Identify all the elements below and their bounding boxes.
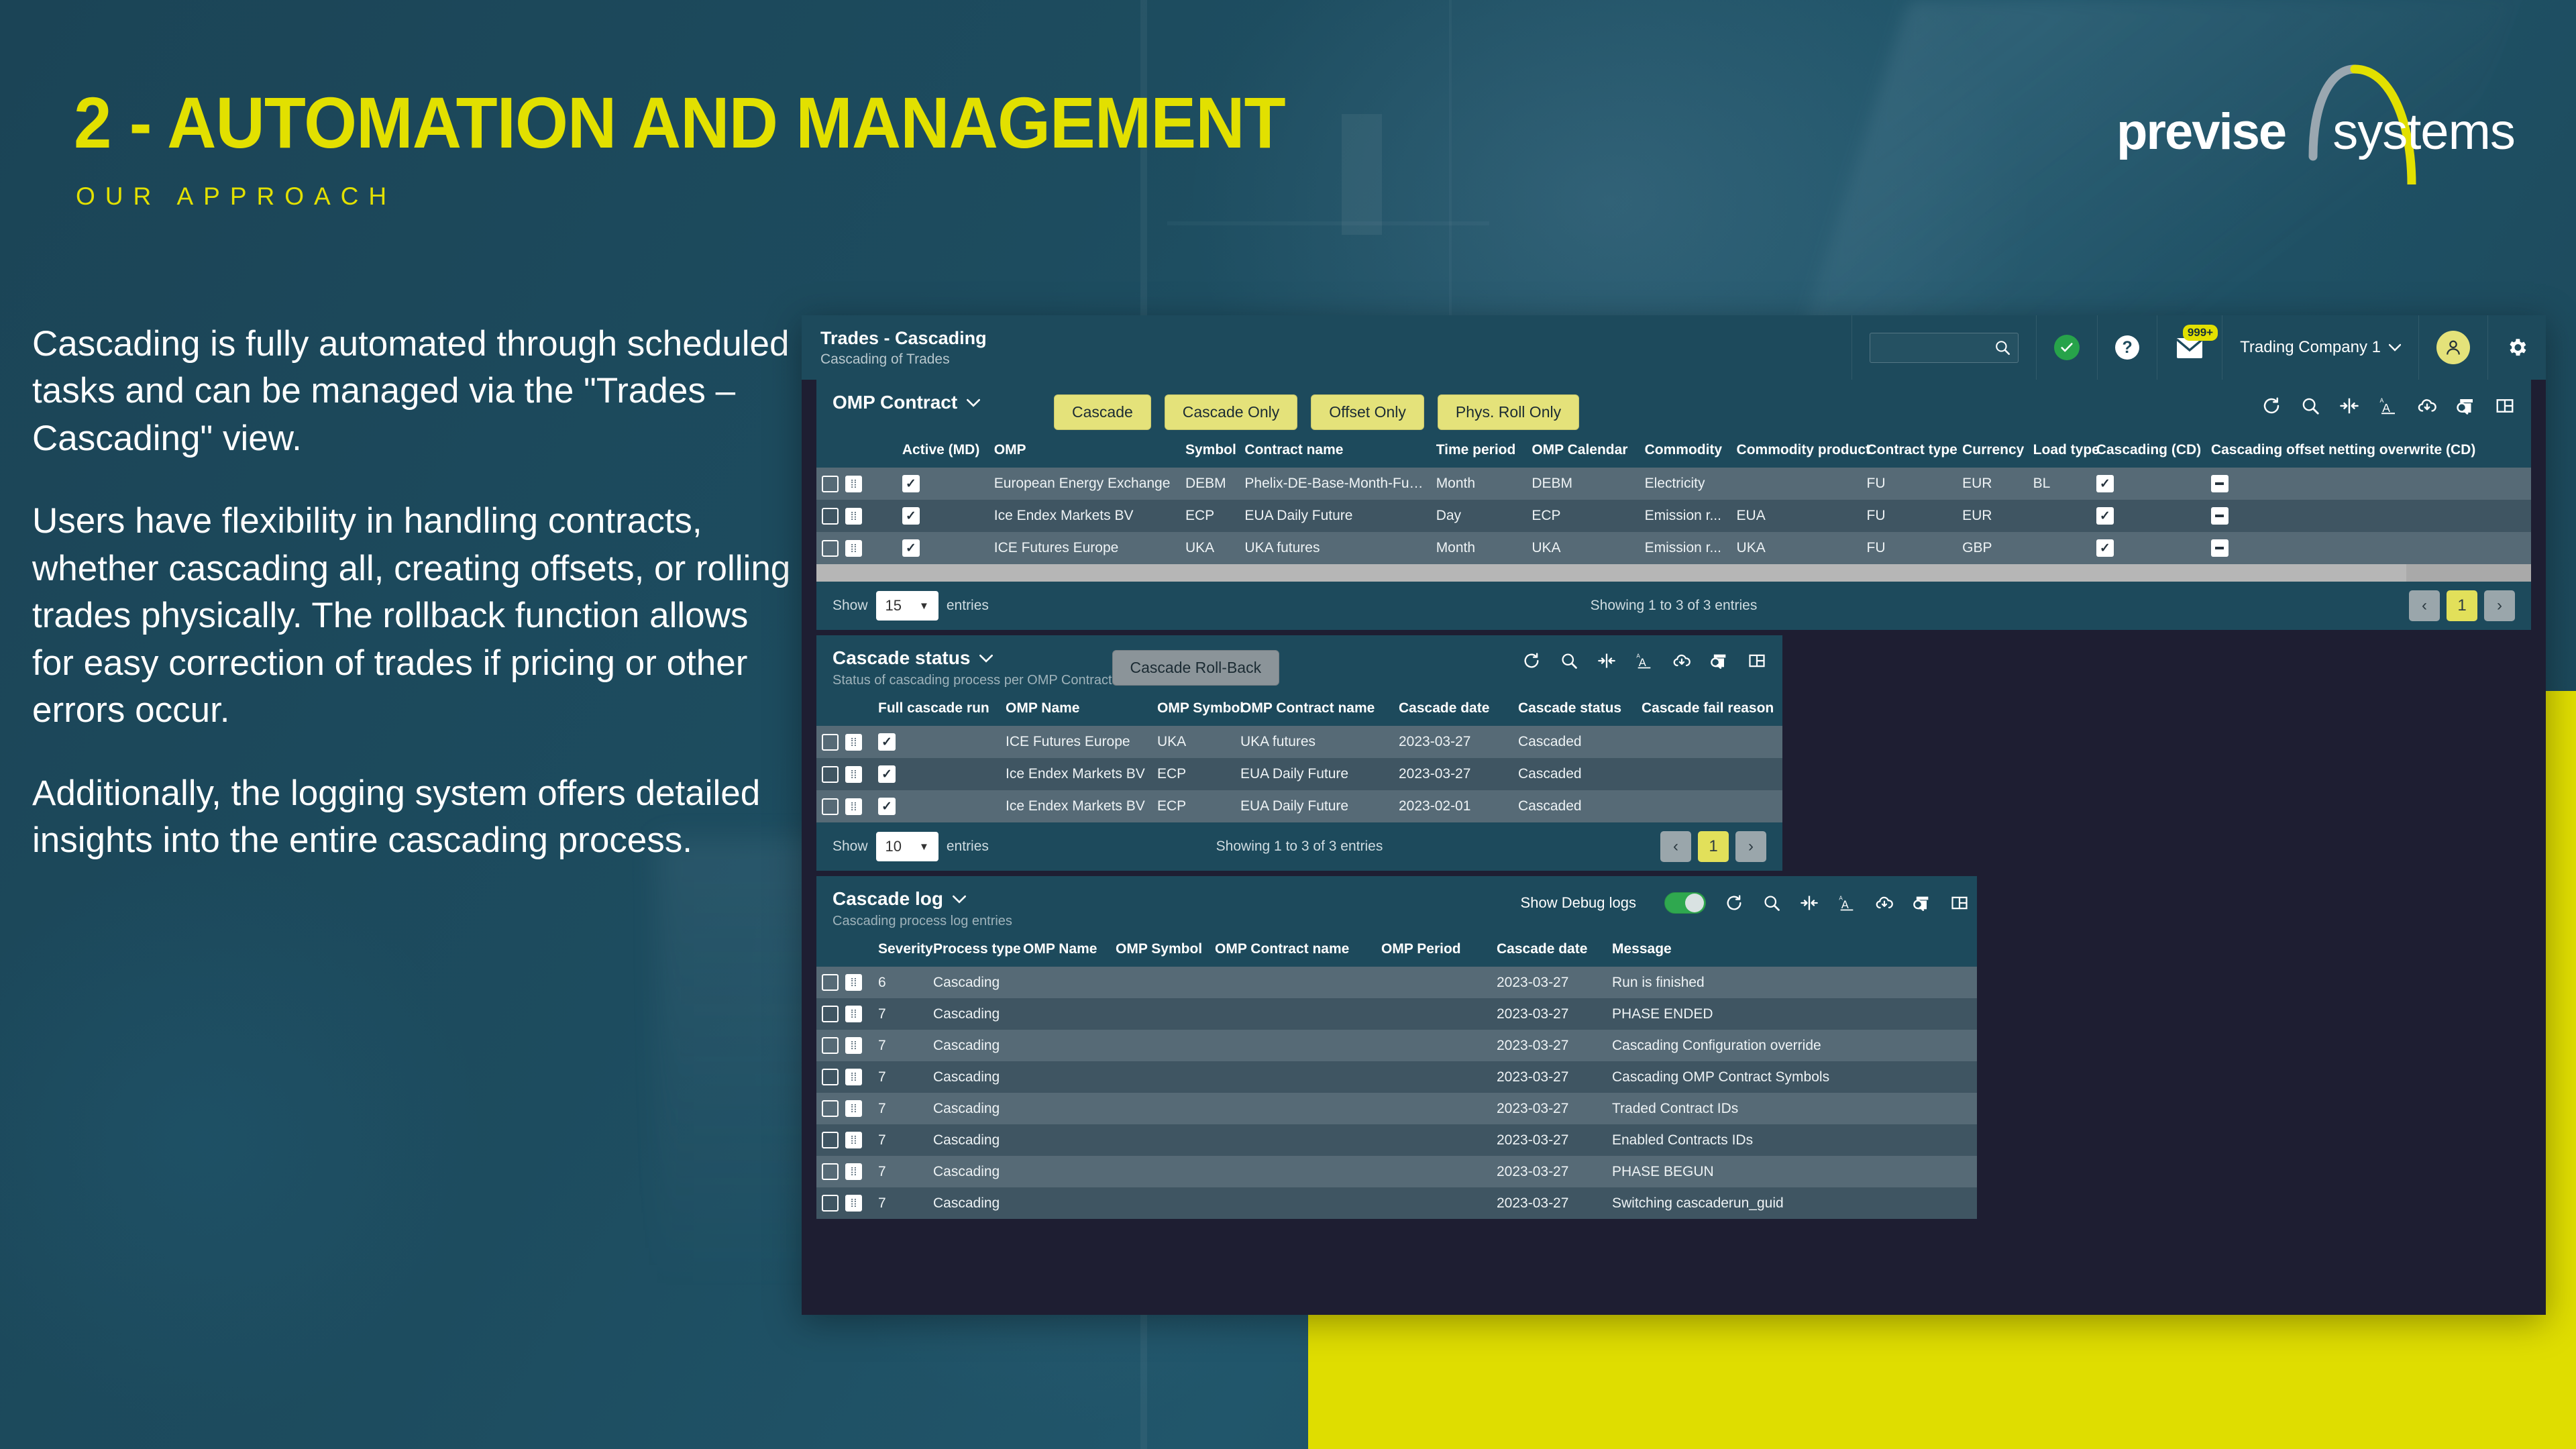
phys-roll-only-button[interactable]: Phys. Roll Only (1438, 394, 1579, 430)
cell-omp-period (1376, 998, 1491, 1030)
table-row[interactable]: ⁞⁞ 7 Cascading 2023-03-27 Switching casc… (816, 1187, 1977, 1219)
row-actions[interactable]: ⁞⁞ (816, 1187, 873, 1219)
row-detail-icon[interactable]: ⁞⁞ (845, 1163, 862, 1180)
cell-omp-name (1018, 1061, 1110, 1093)
show-label: Show (833, 598, 868, 614)
pagination: ‹ 1 › (1660, 831, 1766, 862)
th-omp-name[interactable]: OMP Name (1018, 934, 1110, 967)
cell-cascade-date: 2023-03-27 (1393, 726, 1513, 758)
row-detail-icon[interactable]: ⁞⁞ (845, 1037, 862, 1054)
row-detail-icon[interactable]: ⁞⁞ (845, 540, 862, 557)
fit-columns-icon[interactable] (1800, 894, 1819, 912)
cell-cascade-date: 2023-03-27 (1491, 1124, 1607, 1156)
row-select-checkbox[interactable] (822, 1006, 839, 1022)
cell-time-period: Month (1431, 532, 1527, 564)
table-row[interactable]: ⁞⁞ 7 Cascading 2023-03-27 Cascading Conf… (816, 1030, 1977, 1061)
table-row[interactable]: ⁞⁞ ✓ ICE Futures Europe UKA UKA futures … (816, 532, 2531, 564)
chevron-down-icon[interactable] (967, 398, 980, 407)
messages-cell[interactable]: 999+ (2157, 315, 2222, 380)
page-1-button[interactable]: 1 (2447, 590, 2477, 621)
row-actions[interactable]: ⁞⁞ (816, 1124, 873, 1156)
table-row[interactable]: ⁞⁞ 7 Cascading 2023-03-27 Traded Contrac… (816, 1093, 1977, 1124)
th-omp-symbol[interactable]: OMP Symbol (1110, 934, 1210, 967)
row-select-checkbox[interactable] (822, 508, 839, 525)
cell-contract-type: FU (1862, 468, 1957, 500)
cascade-log-title-text: Cascade log (833, 888, 943, 910)
th-cascade-date[interactable]: Cascade date (1393, 694, 1513, 726)
cell-contract-name: EUA Daily Future (1235, 758, 1393, 790)
th-omp-calendar[interactable]: OMP Calendar (1526, 435, 1639, 468)
cascade-log-table-head: Severity Process type OMP Name OMP Symbo… (816, 934, 1977, 967)
th-omp-contract-name[interactable]: OMP Contract name (1235, 694, 1393, 726)
checkbox-indeterminate-icon[interactable] (2211, 507, 2229, 525)
cell-fail-reason (1636, 790, 1782, 822)
paragraph-3: Additionally, the logging system offers … (32, 770, 797, 865)
cell-offset[interactable] (2206, 468, 2531, 500)
prev-page-button[interactable]: ‹ (2409, 590, 2440, 621)
check-circle-icon[interactable] (2054, 335, 2080, 360)
offset-only-button[interactable]: Offset Only (1311, 394, 1424, 430)
panel-divider (802, 871, 2546, 876)
th-cascade-fail-reason[interactable]: Cascade fail reason (1636, 694, 1782, 726)
cell-cascade-date: 2023-03-27 (1491, 1093, 1607, 1124)
cell-contract-name: Phelix-DE-Base-Month-Future (1239, 468, 1430, 500)
th-commodity-product[interactable]: Commodity product (1731, 435, 1862, 468)
row-select-checkbox[interactable] (822, 974, 839, 991)
cell-symbol: DEBM (1180, 468, 1239, 500)
page-size-select[interactable]: 10 ▼ (876, 832, 938, 861)
row-detail-icon[interactable]: ⁞⁞ (845, 1100, 862, 1117)
row-detail-icon[interactable]: ⁞⁞ (845, 1195, 862, 1212)
cell-fail-reason (1636, 758, 1782, 790)
logo-light-text: systems (2332, 103, 2515, 160)
table-row[interactable]: ⁞⁞ ✓ Ice Endex Markets BV ECP EUA Daily … (816, 790, 1782, 822)
cell-commodity-product: EUA (1731, 500, 1862, 532)
mail-badge: 999+ (2183, 325, 2218, 341)
cell-time-period: Month (1431, 468, 1527, 500)
cell-severity: 7 (873, 998, 928, 1030)
table-row[interactable]: ⁞⁞ 6 Cascading 2023-03-27 Run is finishe… (816, 967, 1977, 998)
omp-contract-panel: OMP Contract Cascade Cascade Only Offset… (816, 380, 2531, 630)
cell-cascade-date: 2023-03-27 (1393, 758, 1513, 790)
row-detail-icon[interactable]: ⁞⁞ (845, 974, 862, 991)
cell-message: PHASE BEGUN (1607, 1156, 1977, 1187)
cell-omp-symbol (1110, 1061, 1210, 1093)
row-select-checkbox[interactable] (822, 1037, 839, 1054)
row-detail-icon[interactable]: ⁞⁞ (845, 476, 862, 492)
cell-omp: ICE Futures Europe (989, 532, 1180, 564)
table-row[interactable]: ⁞⁞ ✓ European Energy Exchange DEBM Pheli… (816, 468, 2531, 500)
omp-panel-title-block: OMP Contract (833, 392, 1054, 413)
cell-contract-type: FU (1862, 532, 1957, 564)
row-select-checkbox[interactable] (822, 798, 839, 815)
cell-message: Cascading OMP Contract Symbols (1607, 1061, 1977, 1093)
cascade-log-table: Severity Process type OMP Name OMP Symbo… (816, 934, 1977, 1219)
cell-cascade-date: 2023-02-01 (1393, 790, 1513, 822)
table-row[interactable]: ⁞⁞ 7 Cascading 2023-03-27 PHASE ENDED (816, 998, 1977, 1030)
cloud-download-icon[interactable] (1875, 894, 1894, 912)
cell-commodity-product: UKA (1731, 532, 1862, 564)
cell-cascade-status: Cascaded (1513, 790, 1636, 822)
bg-streak (1342, 114, 1382, 235)
checkbox-indeterminate-icon[interactable] (2211, 475, 2229, 492)
row-select-checkbox[interactable] (822, 1132, 839, 1148)
table-row[interactable]: ⁞⁞ ✓ Ice Endex Markets BV ECP EUA Daily … (816, 500, 2531, 532)
table-row[interactable]: ⁞⁞ 7 Cascading 2023-03-27 Cascading OMP … (816, 1061, 1977, 1093)
th-omp[interactable]: OMP (989, 435, 1180, 468)
cascade-log-tool-icons: Show Debug logs AA (1521, 892, 1969, 914)
cell-omp-period (1376, 1187, 1491, 1219)
bg-streak (1167, 221, 1489, 225)
checkbox-indeterminate-icon[interactable] (2211, 539, 2229, 557)
cascade-log-title[interactable]: Cascade log (833, 888, 1054, 910)
font-size-icon[interactable]: AA (1837, 894, 1856, 912)
cell-omp-name (1018, 998, 1110, 1030)
cell-severity: 7 (873, 1187, 928, 1219)
row-select-checkbox[interactable] (822, 734, 839, 751)
cell-cascading[interactable]: ✓ (2091, 532, 2206, 564)
pagination: ‹ 1 › (2409, 590, 2515, 621)
fit-columns-icon[interactable] (2339, 396, 2359, 416)
table-row[interactable]: ⁞⁞ ✓ Ice Endex Markets BV ECP EUA Daily … (816, 758, 1782, 790)
cell-omp-symbol (1110, 1124, 1210, 1156)
page-size-value: 15 (885, 597, 902, 614)
status-ok-cell[interactable] (2036, 315, 2097, 380)
row-detail-icon[interactable]: ⁞⁞ (845, 1006, 862, 1022)
user-avatar-cell[interactable] (2418, 315, 2487, 380)
row-actions[interactable]: ⁞⁞ (816, 967, 873, 998)
cell-full-run[interactable]: ✓ (873, 726, 1000, 758)
search-icon[interactable] (1994, 339, 2011, 356)
cell-full-run[interactable]: ✓ (873, 758, 1000, 790)
search-icon[interactable] (1762, 894, 1781, 912)
row-select-checkbox[interactable] (822, 1100, 839, 1117)
th-currency[interactable]: Currency (1957, 435, 2028, 468)
cell-active[interactable]: ✓ (897, 468, 989, 500)
cascade-status-table-body: ⁞⁞ ✓ ICE Futures Europe UKA UKA futures … (816, 726, 1782, 822)
show-label: Show (833, 839, 868, 855)
checkbox-checked-icon[interactable]: ✓ (878, 733, 896, 751)
layout-icon[interactable] (2495, 396, 2515, 416)
th-message[interactable]: Message (1607, 934, 1977, 967)
cell-severity: 7 (873, 1061, 928, 1093)
cell-cascading[interactable]: ✓ (2091, 468, 2206, 500)
cell-omp-period (1376, 1093, 1491, 1124)
cell-offset[interactable] (2206, 532, 2531, 564)
cell-omp-period (1376, 1061, 1491, 1093)
cascade-status-subtitle: Status of cascading process per OMP Cont… (833, 673, 1112, 688)
horizontal-scrollbar[interactable]: ◀ (816, 564, 2531, 582)
search-box[interactable] (1870, 333, 2019, 363)
th-severity[interactable]: Severity (873, 934, 928, 967)
search-input[interactable] (1880, 340, 1994, 356)
cell-severity: 7 (873, 1093, 928, 1124)
cascade-status-actions: Cascade Roll-Back (1112, 647, 1280, 686)
cell-omp-period (1376, 1030, 1491, 1061)
cell-omp-name (1018, 1124, 1110, 1156)
row-actions[interactable]: ⁞⁞ (816, 1156, 873, 1187)
cell-omp-name: ICE Futures Europe (1000, 726, 1152, 758)
chevron-down-icon[interactable] (953, 895, 966, 904)
th-omp-period[interactable]: OMP Period (1376, 934, 1491, 967)
row-select-checkbox[interactable] (822, 1069, 839, 1085)
row-detail-icon[interactable]: ⁞⁞ (845, 766, 862, 783)
row-detail-icon[interactable]: ⁞⁞ (845, 798, 862, 815)
chevron-down-icon[interactable] (2389, 343, 2401, 352)
show-debug-logs-toggle[interactable] (1664, 892, 1706, 914)
th-omp-symbol[interactable]: OMP Symbol (1152, 694, 1235, 726)
cell-symbol: UKA (1180, 532, 1239, 564)
cell-contract-name (1210, 1030, 1376, 1061)
cell-omp-name (1018, 967, 1110, 998)
search-bucket-icon[interactable] (1913, 894, 1931, 912)
cell-omp-name (1018, 1156, 1110, 1187)
row-actions[interactable]: ⁞⁞ (816, 790, 873, 822)
cell-contract-name (1210, 1187, 1376, 1219)
cell-cascade-date: 2023-03-27 (1491, 998, 1607, 1030)
showing-entries-label: Showing 1 to 3 of 3 entries (1216, 839, 1383, 855)
cloud-download-icon[interactable] (1672, 651, 1691, 670)
row-actions[interactable]: ⁞⁞ (816, 500, 897, 532)
cascade-button[interactable]: Cascade (1054, 394, 1151, 430)
checkbox-checked-icon[interactable]: ✓ (2096, 507, 2114, 525)
cell-currency: EUR (1957, 468, 2028, 500)
body-copy: Cascading is fully automated through sch… (32, 321, 797, 900)
entries-label: entries (947, 839, 989, 855)
th-cascade-status[interactable]: Cascade status (1513, 694, 1636, 726)
cell-severity: 6 (873, 967, 928, 998)
chevron-down-icon[interactable]: ▼ (919, 600, 929, 612)
cell-currency: GBP (1957, 532, 2028, 564)
omp-contract-table: Active (MD) OMP Symbol Contract name Tim… (816, 435, 2531, 564)
cell-calendar: ECP (1526, 500, 1639, 532)
question-mark-icon[interactable]: ? (2115, 335, 2139, 360)
show-debug-logs-label: Show Debug logs (1521, 894, 1636, 912)
gear-icon[interactable] (2506, 336, 2528, 359)
cell-process-type: Cascading (928, 1093, 1018, 1124)
cell-active[interactable]: ✓ (897, 532, 989, 564)
user-avatar-icon[interactable] (2436, 331, 2470, 364)
cell-commodity: Electricity (1640, 468, 1731, 500)
cascade-rollback-button[interactable]: Cascade Roll-Back (1112, 650, 1280, 686)
toggle-knob (1685, 894, 1704, 912)
table-row[interactable]: ⁞⁞ 7 Cascading 2023-03-27 PHASE BEGUN (816, 1156, 1977, 1187)
refresh-icon[interactable] (2261, 396, 2282, 416)
cell-contract-name (1210, 1156, 1376, 1187)
cascade-log-header-row: Severity Process type OMP Name OMP Symbo… (816, 934, 1977, 967)
svg-text:A: A (2382, 401, 2390, 415)
cell-symbol: ECP (1180, 500, 1239, 532)
cell-cascade-date: 2023-03-27 (1491, 967, 1607, 998)
cascade-status-title[interactable]: Cascade status (833, 647, 1112, 669)
app-title: Trades - Cascading (820, 327, 987, 349)
th-full-cascade-run[interactable]: Full cascade run (873, 694, 1000, 726)
row-actions[interactable]: ⁞⁞ (816, 998, 873, 1030)
checkbox-checked-icon[interactable]: ✓ (878, 798, 896, 815)
chevron-down-icon[interactable] (979, 654, 993, 663)
row-actions[interactable]: ⁞⁞ (816, 532, 897, 564)
cell-active[interactable]: ✓ (897, 500, 989, 532)
row-detail-icon[interactable]: ⁞⁞ (845, 1069, 862, 1085)
cell-omp: Ice Endex Markets BV (989, 500, 1180, 532)
th-rowactions (816, 694, 873, 726)
omp-panel-title[interactable]: OMP Contract (833, 392, 1054, 413)
cell-omp-symbol (1110, 998, 1210, 1030)
page-1-button[interactable]: 1 (1698, 831, 1729, 862)
th-commodity[interactable]: Commodity (1640, 435, 1731, 468)
search-bucket-icon[interactable] (1710, 651, 1729, 670)
cascade-status-title-text: Cascade status (833, 647, 970, 669)
search-icon[interactable] (2300, 396, 2320, 416)
cell-process-type: Cascading (928, 998, 1018, 1030)
row-select-checkbox[interactable] (822, 476, 839, 492)
checkbox-checked-icon[interactable]: ✓ (878, 765, 896, 783)
fit-columns-icon[interactable] (1597, 651, 1616, 670)
application-window: Trades - Cascading Cascading of Trades (802, 315, 2546, 1315)
cell-load-type (2028, 500, 2091, 532)
checkbox-checked-icon[interactable]: ✓ (2096, 475, 2114, 492)
next-page-button[interactable]: › (2484, 590, 2515, 621)
checkbox-checked-icon[interactable]: ✓ (902, 507, 920, 525)
showing-entries-label: Showing 1 to 3 of 3 entries (1591, 598, 1758, 614)
envelope-icon[interactable]: 999+ (2175, 334, 2204, 361)
omp-tool-icons: AA (2261, 396, 2515, 416)
th-rowactions (816, 435, 897, 468)
th-load-type[interactable]: Load type (2028, 435, 2091, 468)
cascade-log-panel: Cascade log Cascading process log entrie… (816, 876, 1977, 1219)
cell-cascade-status: Cascaded (1513, 726, 1636, 758)
cell-message: Switching cascaderun_guid (1607, 1187, 1977, 1219)
cascade-status-tool-icons: AA (1522, 651, 1766, 670)
checkbox-checked-icon[interactable]: ✓ (902, 539, 920, 557)
cloud-download-icon[interactable] (2417, 396, 2437, 416)
cell-commodity: Emission r... (1640, 500, 1731, 532)
cell-commodity: Emission r... (1640, 532, 1731, 564)
cell-cascade-date: 2023-03-27 (1491, 1187, 1607, 1219)
row-actions[interactable]: ⁞⁞ (816, 726, 873, 758)
cell-omp-symbol: ECP (1152, 758, 1235, 790)
table-row[interactable]: ⁞⁞ 7 Cascading 2023-03-27 Enabled Contra… (816, 1124, 1977, 1156)
settings-cell[interactable] (2487, 315, 2546, 380)
refresh-icon[interactable] (1522, 651, 1541, 670)
th-omp-contract-name[interactable]: OMP Contract name (1210, 934, 1376, 967)
cell-contract-name (1210, 998, 1376, 1030)
layout-icon[interactable] (1950, 894, 1969, 912)
row-select-checkbox[interactable] (822, 1163, 839, 1180)
prev-page-button[interactable]: ‹ (1660, 831, 1691, 862)
th-contract-type[interactable]: Contract type (1862, 435, 1957, 468)
th-process-type[interactable]: Process type (928, 934, 1018, 967)
cell-contract-name: EUA Daily Future (1239, 500, 1430, 532)
cell-contract-name (1210, 1124, 1376, 1156)
cell-omp-symbol (1110, 1187, 1210, 1219)
cell-omp-period (1376, 967, 1491, 998)
app-header-actions: ? 999+ Trading Company 1 (1851, 315, 2546, 380)
cell-contract-type: FU (1862, 500, 1957, 532)
th-omp-name[interactable]: OMP Name (1000, 694, 1152, 726)
omp-action-buttons: Cascade Cascade Only Offset Only Phys. R… (1054, 392, 1579, 430)
cell-omp-symbol: ECP (1152, 790, 1235, 822)
cell-contract-name: UKA futures (1239, 532, 1430, 564)
cell-contract-name (1210, 1061, 1376, 1093)
cell-process-type: Cascading (928, 1156, 1018, 1187)
panel-divider (802, 630, 2546, 635)
th-symbol[interactable]: Symbol (1180, 435, 1239, 468)
company-name-label[interactable]: Trading Company 1 (2240, 338, 2401, 357)
cell-cascade-date: 2023-03-27 (1491, 1061, 1607, 1093)
row-actions[interactable]: ⁞⁞ (816, 1061, 873, 1093)
font-size-icon[interactable]: AA (1635, 651, 1654, 670)
cascade-only-button[interactable]: Cascade Only (1165, 394, 1297, 430)
next-page-button[interactable]: › (1735, 831, 1766, 862)
row-detail-icon[interactable]: ⁞⁞ (845, 508, 862, 525)
logo-bold-text: previse (2116, 103, 2286, 160)
cell-omp-symbol (1110, 1156, 1210, 1187)
cell-full-run[interactable]: ✓ (873, 790, 1000, 822)
scrollbar-thumb[interactable] (816, 564, 2406, 582)
row-actions[interactable]: ⁞⁞ (816, 1030, 873, 1061)
chevron-down-icon[interactable]: ▼ (919, 841, 929, 853)
bg-streak (1449, 0, 1452, 349)
row-detail-icon[interactable]: ⁞⁞ (845, 1132, 862, 1148)
th-cascading-offset[interactable]: Cascading offset netting overwrite (CD) (2206, 435, 2531, 468)
cell-process-type: Cascading (928, 1030, 1018, 1061)
refresh-icon[interactable] (1725, 894, 1743, 912)
cell-process-type: Cascading (928, 967, 1018, 998)
cascade-status-header-row: Full cascade run OMP Name OMP Symbol OMP… (816, 694, 1782, 726)
cascade-status-panel: Cascade status Status of cascading proce… (816, 635, 1782, 871)
cell-omp-symbol (1110, 1030, 1210, 1061)
cell-offset[interactable] (2206, 500, 2531, 532)
cell-calendar: UKA (1526, 532, 1639, 564)
font-size-icon[interactable]: AA (2378, 396, 2398, 416)
help-cell[interactable]: ? (2097, 315, 2157, 380)
th-time-period[interactable]: Time period (1431, 435, 1527, 468)
app-subtitle: Cascading of Trades (820, 352, 987, 368)
row-select-checkbox[interactable] (822, 766, 839, 783)
th-cascading-cd[interactable]: Cascading (CD) (2091, 435, 2206, 468)
row-detail-icon[interactable]: ⁞⁞ (845, 734, 862, 751)
row-actions[interactable]: ⁞⁞ (816, 1093, 873, 1124)
cell-load-type: BL (2028, 468, 2091, 500)
layout-icon[interactable] (1748, 651, 1766, 670)
th-cascade-date[interactable]: Cascade date (1491, 934, 1607, 967)
row-actions[interactable]: ⁞⁞ (816, 468, 897, 500)
row-select-checkbox[interactable] (822, 1195, 839, 1212)
th-contract-name[interactable]: Contract name (1239, 435, 1430, 468)
search-icon[interactable] (1560, 651, 1578, 670)
page-size-select[interactable]: 15 ▼ (876, 591, 938, 621)
table-row[interactable]: ⁞⁞ ✓ ICE Futures Europe UKA UKA futures … (816, 726, 1782, 758)
cell-omp-period (1376, 1124, 1491, 1156)
cell-contract-name (1210, 967, 1376, 998)
checkbox-checked-icon[interactable]: ✓ (902, 475, 920, 492)
row-actions[interactable]: ⁞⁞ (816, 758, 873, 790)
th-rowactions (816, 934, 873, 967)
cell-contract-name: UKA futures (1235, 726, 1393, 758)
cell-omp: European Energy Exchange (989, 468, 1180, 500)
cell-cascading[interactable]: ✓ (2091, 500, 2206, 532)
cascade-status-table: Full cascade run OMP Name OMP Symbol OMP… (816, 694, 1782, 822)
th-active-md[interactable]: Active (MD) (897, 435, 989, 468)
cell-cascade-status: Cascaded (1513, 758, 1636, 790)
checkbox-checked-icon[interactable]: ✓ (2096, 539, 2114, 557)
company-selector[interactable]: Trading Company 1 (2222, 315, 2418, 380)
omp-panel-header: OMP Contract Cascade Cascade Only Offset… (816, 380, 2531, 435)
search-bucket-icon[interactable] (2456, 396, 2476, 416)
global-search-cell (1851, 315, 2036, 380)
row-select-checkbox[interactable] (822, 540, 839, 557)
